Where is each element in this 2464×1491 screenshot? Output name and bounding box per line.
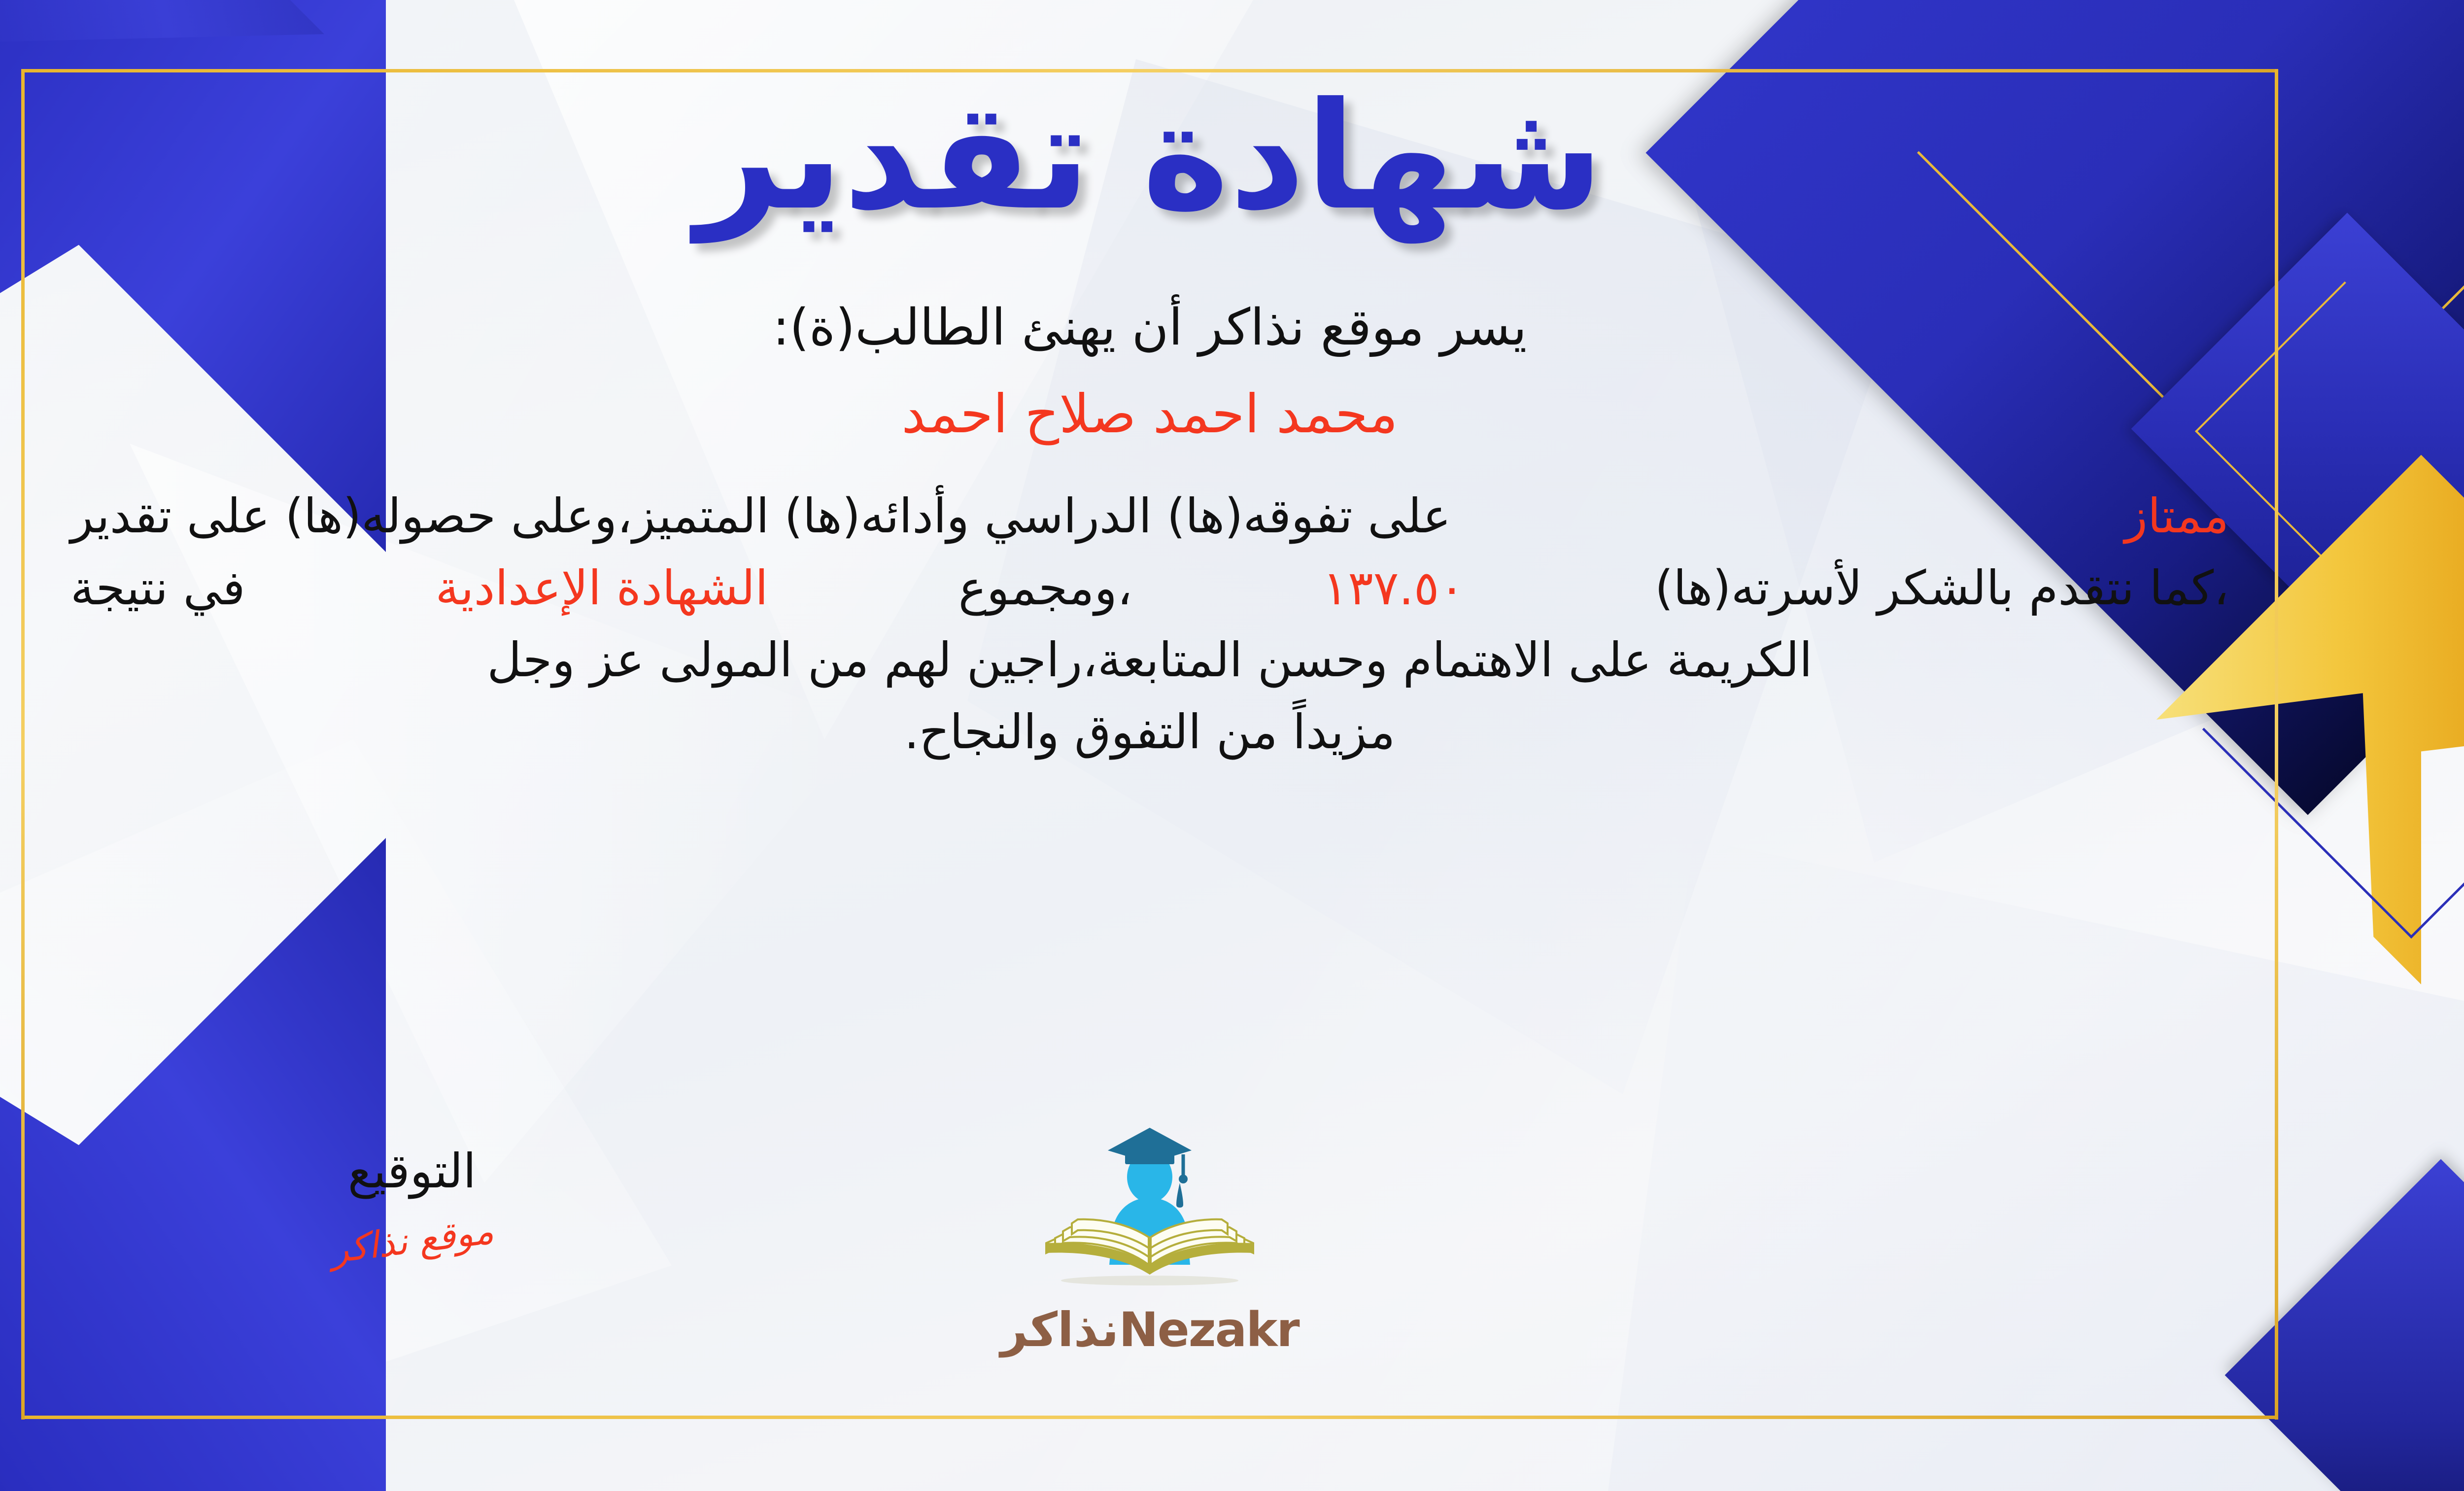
brand-wordmark-arabic: نذاكر bbox=[1000, 1302, 1119, 1357]
body-line-2-head: في نتيجة bbox=[70, 553, 245, 624]
salutation-text: يسر موقع نذاكر أن يهنئ الطالب(ة): bbox=[773, 298, 1527, 357]
grade-value: ممتاز bbox=[2125, 481, 2229, 553]
certificate-title: شهادة تقدير bbox=[696, 79, 1604, 234]
total-score-value: ١٣٧.٥٠ bbox=[1323, 553, 1465, 624]
signature-block: التوقيع موقع نذاكر bbox=[240, 1144, 584, 1262]
frame-border-right bbox=[2275, 69, 2278, 1420]
graduate-over-open-book-icon bbox=[1027, 1124, 1273, 1301]
brand-logo: Nezakrنذاكر bbox=[992, 1124, 1307, 1357]
body-line-1: ممتاز على تفوقه(ها) الدراسي وأدائه(ها) ا… bbox=[70, 481, 2229, 553]
exam-name-value: الشهادة الإعدادية bbox=[435, 553, 768, 624]
student-name: محمد احمد صلاح احمد bbox=[901, 383, 1398, 445]
body-line-2-tail: ،كما نتقدم بالشكر لأسرته(ها) bbox=[1655, 553, 2229, 624]
body-line-3: الكريمة على الاهتمام وحسن المتابعة،راجين… bbox=[70, 624, 2229, 696]
brand-wordmark-latin: Nezakr bbox=[1119, 1302, 1299, 1357]
body-line-1-text: على تفوقه(ها) الدراسي وأدائه(ها) المتميز… bbox=[70, 481, 1451, 553]
certificate-body: ممتاز على تفوقه(ها) الدراسي وأدائه(ها) ا… bbox=[70, 481, 2229, 768]
brand-wordmark: Nezakrنذاكر bbox=[992, 1302, 1307, 1357]
certificate-content: شهادة تقدير يسر موقع نذاكر أن يهنئ الطال… bbox=[25, 69, 2275, 1416]
certificate-page: شهادة تقدير يسر موقع نذاكر أن يهنئ الطال… bbox=[0, 0, 2464, 1491]
signature-label: التوقيع bbox=[240, 1144, 584, 1199]
body-line-2: ،كما نتقدم بالشكر لأسرته(ها) ١٣٧.٥٠ ،ومج… bbox=[70, 553, 2229, 624]
body-line-4: مزيداً من التفوق والنجاح. bbox=[70, 696, 2229, 768]
certificate-footer: التوقيع موقع نذاكر bbox=[25, 1144, 2275, 1420]
frame-border-left bbox=[21, 69, 25, 1420]
signature-script: موقع نذاكر bbox=[328, 1210, 496, 1272]
body-line-2-mid: ،ومجموع bbox=[958, 553, 1132, 624]
